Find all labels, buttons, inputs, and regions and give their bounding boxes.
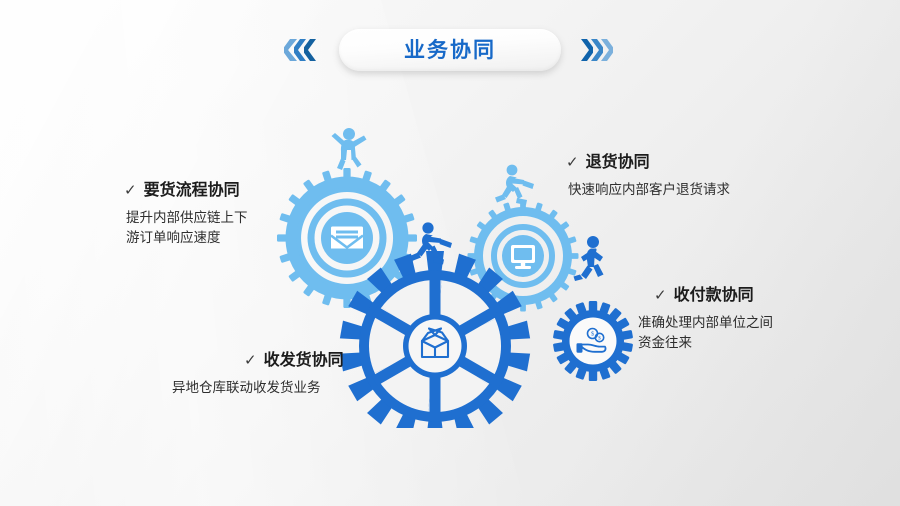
callout-return[interactable]: ✓ 退货协同 快速响应内部客户退货请求 <box>566 155 730 200</box>
envelope-icon <box>331 227 363 249</box>
slide-canvas: 业务协同 <box>0 0 900 506</box>
callout-order-heading: ✓ 要货流程协同 <box>124 183 248 199</box>
title-pill[interactable]: 业务协同 <box>339 29 561 71</box>
svg-text:$: $ <box>598 334 601 341</box>
callout-return-title: 退货协同 <box>586 155 650 171</box>
page-title: 业务协同 <box>404 40 496 61</box>
callout-order[interactable]: ✓ 要货流程协同 提升内部供应链上下 游订单响应速度 <box>124 183 248 247</box>
callout-payment-desc: 准确处理内部单位之间 资金往来 <box>636 313 773 352</box>
callout-payment-heading: ✓ 收付款协同 <box>636 288 773 304</box>
callout-return-desc: 快速响应内部客户退货请求 <box>566 180 730 200</box>
callout-payment[interactable]: ✓ 收付款协同 准确处理内部单位之间 资金往来 <box>636 288 773 352</box>
svg-text:$: $ <box>591 331 594 338</box>
person-running-icon <box>495 165 534 205</box>
callout-order-desc: 提升内部供应链上下 游订单响应速度 <box>124 208 248 247</box>
callout-order-title: 要货流程协同 <box>144 183 240 199</box>
triple-chevron-left-icon <box>287 39 317 61</box>
check-icon: ✓ <box>654 288 667 303</box>
person-arms-raised-icon <box>332 128 367 170</box>
check-icon: ✓ <box>566 155 579 170</box>
slide-header: 业务协同 <box>0 26 900 74</box>
check-icon: ✓ <box>244 353 257 368</box>
gear-payment[interactable]: $ $ <box>553 301 633 381</box>
callout-return-heading: ✓ 退货协同 <box>566 155 730 171</box>
callout-payment-title: 收付款协同 <box>674 288 754 304</box>
check-icon: ✓ <box>124 183 137 198</box>
callout-ship-desc: 异地仓库联动收发货业务 <box>172 378 344 398</box>
chevron-right-3 <box>600 39 613 61</box>
callout-ship-heading: ✓ 收发货协同 <box>172 353 344 369</box>
chevron-left-3 <box>304 39 317 61</box>
callout-ship-title: 收发货协同 <box>264 353 344 369</box>
callout-ship[interactable]: ✓ 收发货协同 异地仓库联动收发货业务 <box>172 353 344 398</box>
triple-chevron-right-icon <box>583 39 613 61</box>
